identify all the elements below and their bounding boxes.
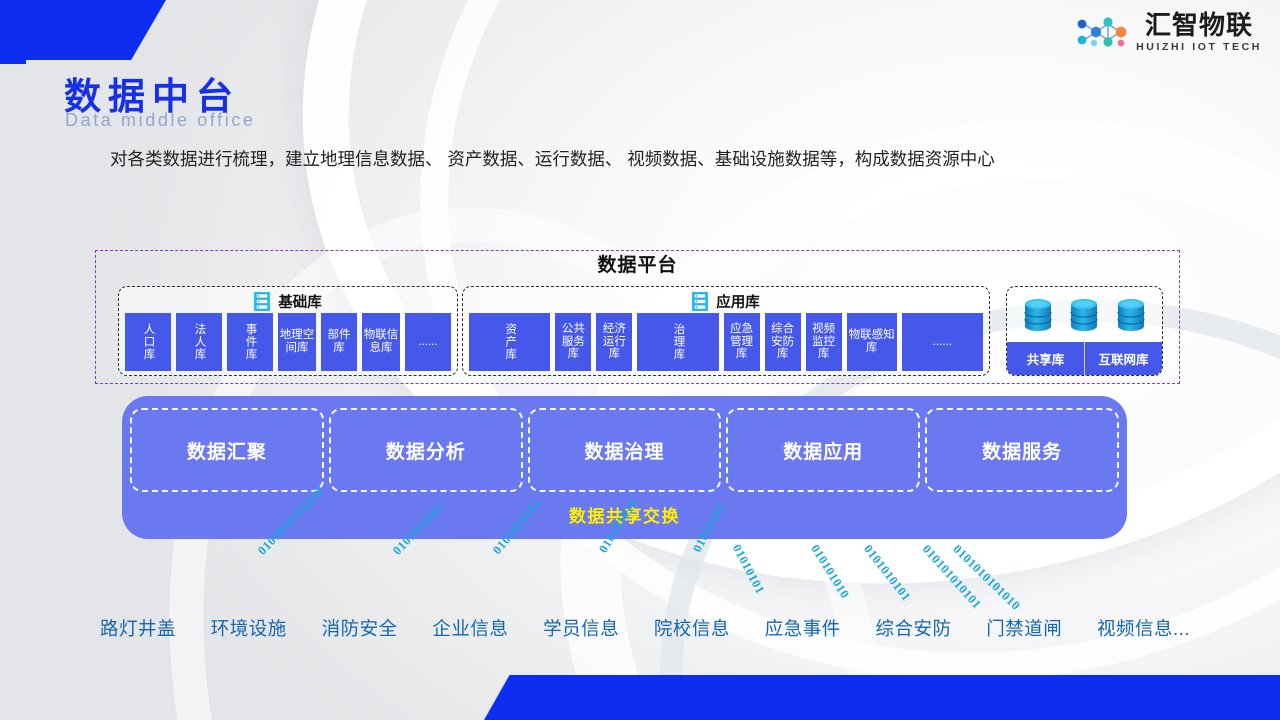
library-tile[interactable]: 物联信息库 — [362, 313, 400, 371]
database-icons — [1007, 287, 1162, 342]
tag-item[interactable]: 视频信息... — [1097, 615, 1190, 641]
database-cylinder-icon — [1069, 298, 1099, 332]
database-cylinder-icon — [1023, 298, 1053, 332]
library-tile[interactable]: 应急管理库 — [724, 313, 760, 371]
database-labels: 共享库 互联网库 — [1007, 342, 1162, 375]
binary-stream: 0101010101 — [860, 542, 913, 604]
library-tile[interactable]: 经济运行库 — [596, 313, 632, 371]
library-tile[interactable]: 资产库 — [469, 313, 550, 371]
base-library-title: 基础库 — [278, 291, 322, 312]
db-label-internet[interactable]: 互联网库 — [1084, 342, 1162, 375]
app-library-tiles: 资产库 公共服务库 经济运行库 治理库 应急管理库 综合安防库 视频监控库 物联… — [463, 313, 989, 371]
library-tile[interactable]: 视频监控库 — [806, 313, 842, 371]
base-library-box: 基础库 人口库 法人库 事件库 地理空间库 部件库 物联信息库 ...... — [118, 286, 458, 376]
page-description: 对各类数据进行梳理，建立地理信息数据、 资产数据、运行数据、 视频数据、基础设施… — [110, 138, 1180, 181]
brand-name-en: HUIZHI IOT TECH — [1136, 42, 1262, 53]
left-edge-accent-shape — [0, 0, 26, 64]
library-tile[interactable]: 人口库 — [125, 313, 171, 371]
capability-item[interactable]: 数据服务 — [925, 408, 1119, 492]
capability-band: 数据汇聚 数据分析 数据治理 数据应用 数据服务 数据共享交换 — [122, 396, 1127, 539]
db-label-shared[interactable]: 共享库 — [1007, 342, 1084, 375]
binary-stream: 010101010101 — [919, 542, 984, 612]
library-tile[interactable]: 法人库 — [176, 313, 222, 371]
page-subtitle: Data middle office — [65, 110, 256, 131]
tag-item[interactable]: 路灯井盖 — [100, 615, 176, 641]
binary-stream: 0101010101010 — [950, 542, 1024, 614]
brand-name-cn: 汇智物联 — [1145, 12, 1253, 38]
tag-item[interactable]: 门禁道闸 — [986, 615, 1062, 641]
tag-row: 路灯井盖 环境设施 消防安全 企业信息 学员信息 院校信息 应急事件 综合安防 … — [100, 615, 1190, 641]
data-platform-title: 数据平台 — [96, 250, 1179, 277]
shared-db-panel: 共享库 互联网库 — [1006, 286, 1163, 376]
capability-item[interactable]: 数据分析 — [329, 408, 523, 492]
library-tile[interactable]: 事件库 — [227, 313, 273, 371]
base-library-tiles: 人口库 法人库 事件库 地理空间库 部件库 物联信息库 ...... — [119, 313, 457, 371]
database-cylinder-icon — [1116, 298, 1146, 332]
server-stack-icon — [692, 292, 708, 311]
capability-row: 数据汇聚 数据分析 数据治理 数据应用 数据服务 — [122, 396, 1127, 492]
library-tile[interactable]: 公共服务库 — [555, 313, 591, 371]
library-tile[interactable]: 综合安防库 — [765, 313, 801, 371]
data-exchange-label: 数据共享交换 — [122, 502, 1127, 527]
slide-root: 汇智物联 HUIZHI IOT TECH 数据中台 Data middle of… — [0, 0, 1280, 720]
library-tile[interactable]: ...... — [902, 313, 983, 371]
tag-item[interactable]: 环境设施 — [211, 615, 287, 641]
library-tile[interactable]: ...... — [405, 313, 451, 371]
app-library-header: 应用库 — [463, 290, 989, 313]
tag-item[interactable]: 应急事件 — [765, 615, 841, 641]
binary-stream: 010101010 — [807, 542, 852, 601]
binary-stream-group: 0101010101010010101010101010101010101010… — [0, 530, 1280, 625]
library-tile[interactable]: 治理库 — [637, 313, 718, 371]
capability-item[interactable]: 数据汇聚 — [130, 408, 324, 492]
tag-item[interactable]: 学员信息 — [543, 615, 619, 641]
app-library-box: 应用库 资产库 公共服务库 经济运行库 治理库 应急管理库 综合安防库 视频监控… — [462, 286, 990, 376]
app-library-title: 应用库 — [716, 291, 760, 312]
brand-logo: 汇智物联 HUIZHI IOT TECH — [1076, 12, 1262, 53]
data-platform-panel: 数据平台 基础库 人口库 法人库 事件库 地理空间库 部件库 — [95, 250, 1180, 384]
library-tile[interactable]: 物联感知库 — [847, 313, 897, 371]
base-library-header: 基础库 — [119, 290, 457, 313]
tag-item[interactable]: 院校信息 — [654, 615, 730, 641]
tag-item[interactable]: 消防安全 — [322, 615, 398, 641]
bottom-right-accent-shape — [484, 675, 1280, 720]
capability-item[interactable]: 数据应用 — [726, 408, 920, 492]
server-stack-icon — [254, 292, 270, 311]
tag-item[interactable]: 企业信息 — [432, 615, 508, 641]
library-tile[interactable]: 地理空间库 — [278, 313, 316, 371]
binary-stream: 01010101 — [729, 542, 768, 597]
library-tile[interactable]: 部件库 — [321, 313, 357, 371]
capability-item[interactable]: 数据治理 — [528, 408, 722, 492]
network-nodes-icon — [1076, 12, 1128, 52]
tag-item[interactable]: 综合安防 — [875, 615, 951, 641]
